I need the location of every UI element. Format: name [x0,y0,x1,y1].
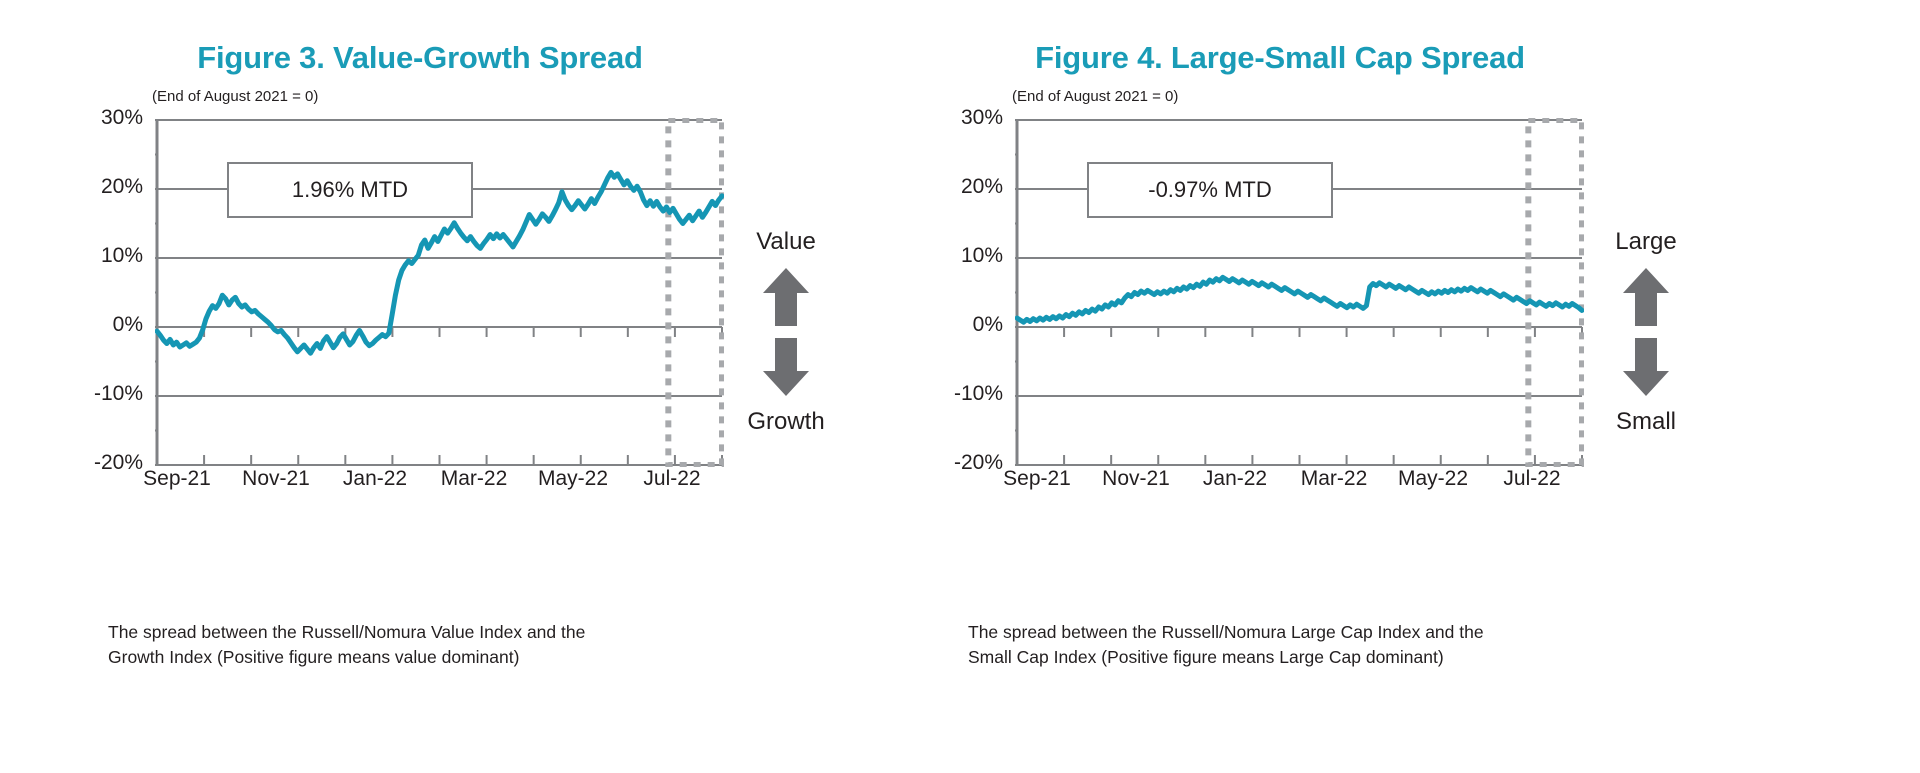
figure-4-subtitle: (End of August 2021 = 0) [1012,88,1178,105]
figure-4-xtick-3: Mar-22 [1301,467,1368,491]
figure-3-direction-legend: Value Growth [726,228,846,436]
figure-3-xtick-4: May-22 [538,467,608,491]
figure-4-ytick-4: -10% [954,382,1003,406]
figure-3-ytick-2: 10% [101,244,143,268]
arrow-up-icon [763,268,809,326]
figure-4-chart: 30% 20% 10% 0% -10% -20% Sep-21 Nov-21 J… [1015,118,1580,463]
figure-4-xtick-2: Jan-22 [1203,467,1267,491]
figure-3-xtick-3: Mar-22 [441,467,508,491]
figure-4-ytick-0: 30% [961,106,1003,130]
figure-4-xtick-0: Sep-21 [1003,467,1071,491]
figure-3-ytick-3: 0% [113,313,143,337]
figure-4-ytick-2: 10% [961,244,1003,268]
figure-4-xtick-5: Jul-22 [1503,467,1560,491]
figure-4-ytick-3: 0% [973,313,1003,337]
figure-4-caption: The spread between the Russell/Nomura La… [968,620,1628,671]
figure-4-xtick-1: Nov-21 [1102,467,1170,491]
figure-3-subtitle: (End of August 2021 = 0) [152,88,318,105]
figure-3-ytick-0: 30% [101,106,143,130]
figure-3-xtick-5: Jul-22 [643,467,700,491]
figure-4-direction-up-label: Large [1586,228,1706,256]
figure-3-chart: 30% 20% 10% 0% -10% -20% Sep-21 Nov-21 J… [155,118,720,463]
arrow-up-icon [1623,268,1669,326]
figure-3-panel: Figure 3. Value-Growth Spread (End of Au… [0,0,960,773]
figure-3-xtick-2: Jan-22 [343,467,407,491]
figure-3-xtick-0: Sep-21 [143,467,211,491]
figures-page: Figure 3. Value-Growth Spread (End of Au… [0,0,1920,773]
figure-3-ytick-4: -10% [94,382,143,406]
figure-4-title: Figure 4. Large-Small Cap Spread [860,40,1700,76]
figure-3-title: Figure 3. Value-Growth Spread [0,40,840,76]
figure-4-panel: Figure 4. Large-Small Cap Spread (End of… [860,0,1820,773]
figure-3-mtd-callout: 1.96% MTD [227,162,473,218]
figure-3-caption: The spread between the Russell/Nomura Va… [108,620,748,671]
arrow-down-icon [763,338,809,396]
figure-4-direction-legend: Large Small [1586,228,1706,436]
figure-4-ytick-1: 20% [961,175,1003,199]
figure-3-xaxis-labels: Sep-21 Nov-21 Jan-22 Mar-22 May-22 Jul-2… [115,467,815,497]
arrow-down-icon [1623,338,1669,396]
figure-3-direction-down-label: Growth [726,408,846,436]
figure-3-direction-up-label: Value [726,228,846,256]
figure-4-direction-down-label: Small [1586,408,1706,436]
figure-4-xaxis-labels: Sep-21 Nov-21 Jan-22 Mar-22 May-22 Jul-2… [975,467,1675,497]
figure-4-xtick-4: May-22 [1398,467,1468,491]
figure-3-xtick-1: Nov-21 [242,467,310,491]
figure-4-mtd-callout: -0.97% MTD [1087,162,1333,218]
figure-3-ytick-1: 20% [101,175,143,199]
